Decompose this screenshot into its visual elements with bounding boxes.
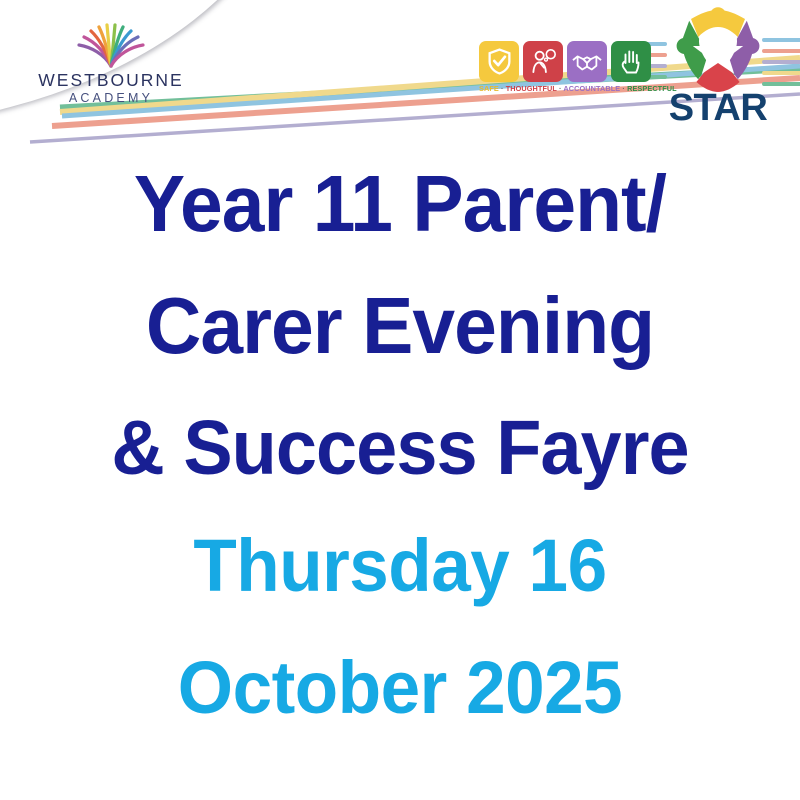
school-values-badges: SAFE · THOUGHTFUL · ACCOUNTABLE · RESPEC… — [479, 41, 657, 92]
value-word-accountable: ACCOUNTABLE — [563, 84, 620, 93]
star-head-top — [710, 7, 726, 23]
star-wordmark: STAR — [663, 94, 773, 124]
values-tile-row — [479, 41, 657, 82]
date-line-2: October 2025 — [16, 627, 784, 749]
date-line-1: Thursday 16 — [16, 505, 784, 627]
headline-line-1: Year 11 Parent/ — [16, 143, 784, 265]
headline-line-3: & Success Fayre — [16, 387, 784, 509]
person-thinking-icon — [530, 48, 557, 75]
star-head-right — [743, 38, 759, 54]
raised-hand-icon — [619, 48, 643, 75]
value-tile-respectful — [611, 41, 651, 82]
value-word-safe: SAFE — [479, 84, 499, 93]
school-name: WESTBOURNE — [36, 71, 186, 89]
value-separator-2: · — [559, 84, 562, 93]
value-tile-accountable — [567, 41, 607, 82]
shield-check-icon — [487, 48, 512, 75]
school-subtitle: ACADEMY — [36, 91, 186, 106]
event-date: Thursday 16 October 2025 — [0, 505, 800, 749]
value-separator-1: · — [501, 84, 504, 93]
star-head-left — [677, 38, 693, 54]
value-tile-safe — [479, 41, 519, 82]
headline-line-2: Carer Evening — [16, 265, 784, 387]
poster-canvas: WESTBOURNE ACADEMY — [0, 0, 800, 800]
value-separator-3: · — [622, 84, 625, 93]
handshake-icon — [572, 51, 602, 73]
event-headline: Year 11 Parent/ Carer Evening & Success … — [0, 143, 800, 509]
value-word-thoughtful: THOUGHTFUL — [506, 84, 557, 93]
westbourne-fan-icon — [71, 18, 151, 68]
values-word-list: SAFE · THOUGHTFUL · ACCOUNTABLE · RESPEC… — [479, 85, 657, 92]
star-trust-logo: STAR — [663, 2, 773, 130]
westbourne-academy-logo: WESTBOURNE ACADEMY — [36, 18, 186, 113]
star-people-icon — [664, 2, 772, 98]
value-tile-thoughtful — [523, 41, 563, 82]
